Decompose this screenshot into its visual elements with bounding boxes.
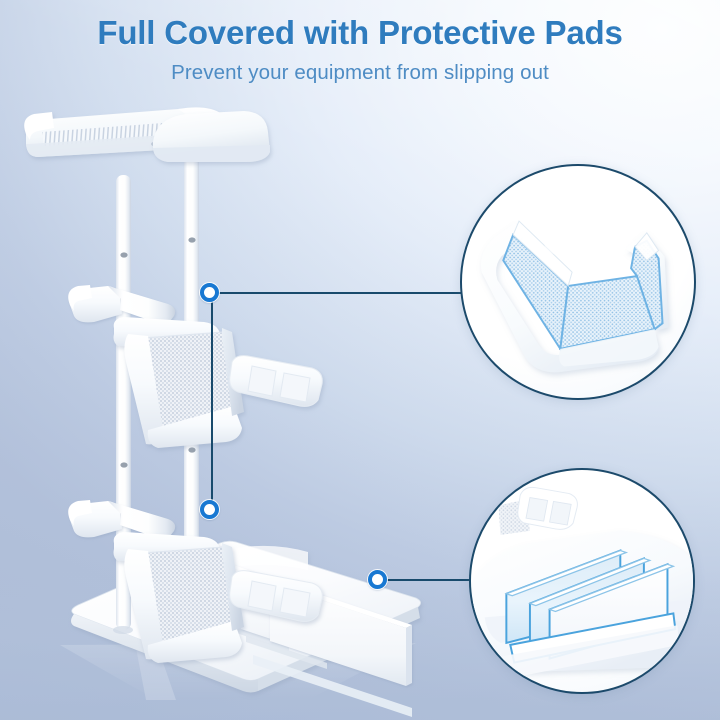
post-screw-2 [188,237,195,242]
magnifier-cradle-pad-art [462,166,694,398]
bf-background-rest [499,487,578,534]
magnifier-cradle-pad [460,164,696,400]
magnifier-base-fin-pad [469,468,695,694]
post-screw-4 [188,447,195,452]
infographic-stage: Full Covered with Protective Pads Preven… [0,0,720,720]
post-screw-3 [120,462,127,467]
product-illustration [8,100,478,720]
magnifier-base-fin-pad-art [471,470,693,692]
callout-lower-shelf-pad[interactable] [200,500,219,519]
upper-shelf [114,317,323,448]
header-block: Full Covered with Protective Pads Preven… [0,14,720,85]
page-subtitle: Prevent your equipment from slipping out [0,61,720,85]
upper-controller-rest [230,356,323,407]
callout-base-fin-pad[interactable] [368,570,387,589]
top-rear-cap [153,111,270,162]
post-screw-1 [120,252,127,257]
callout-upper-shelf-pad[interactable] [200,283,219,302]
page-title: Full Covered with Protective Pads [0,14,720,52]
